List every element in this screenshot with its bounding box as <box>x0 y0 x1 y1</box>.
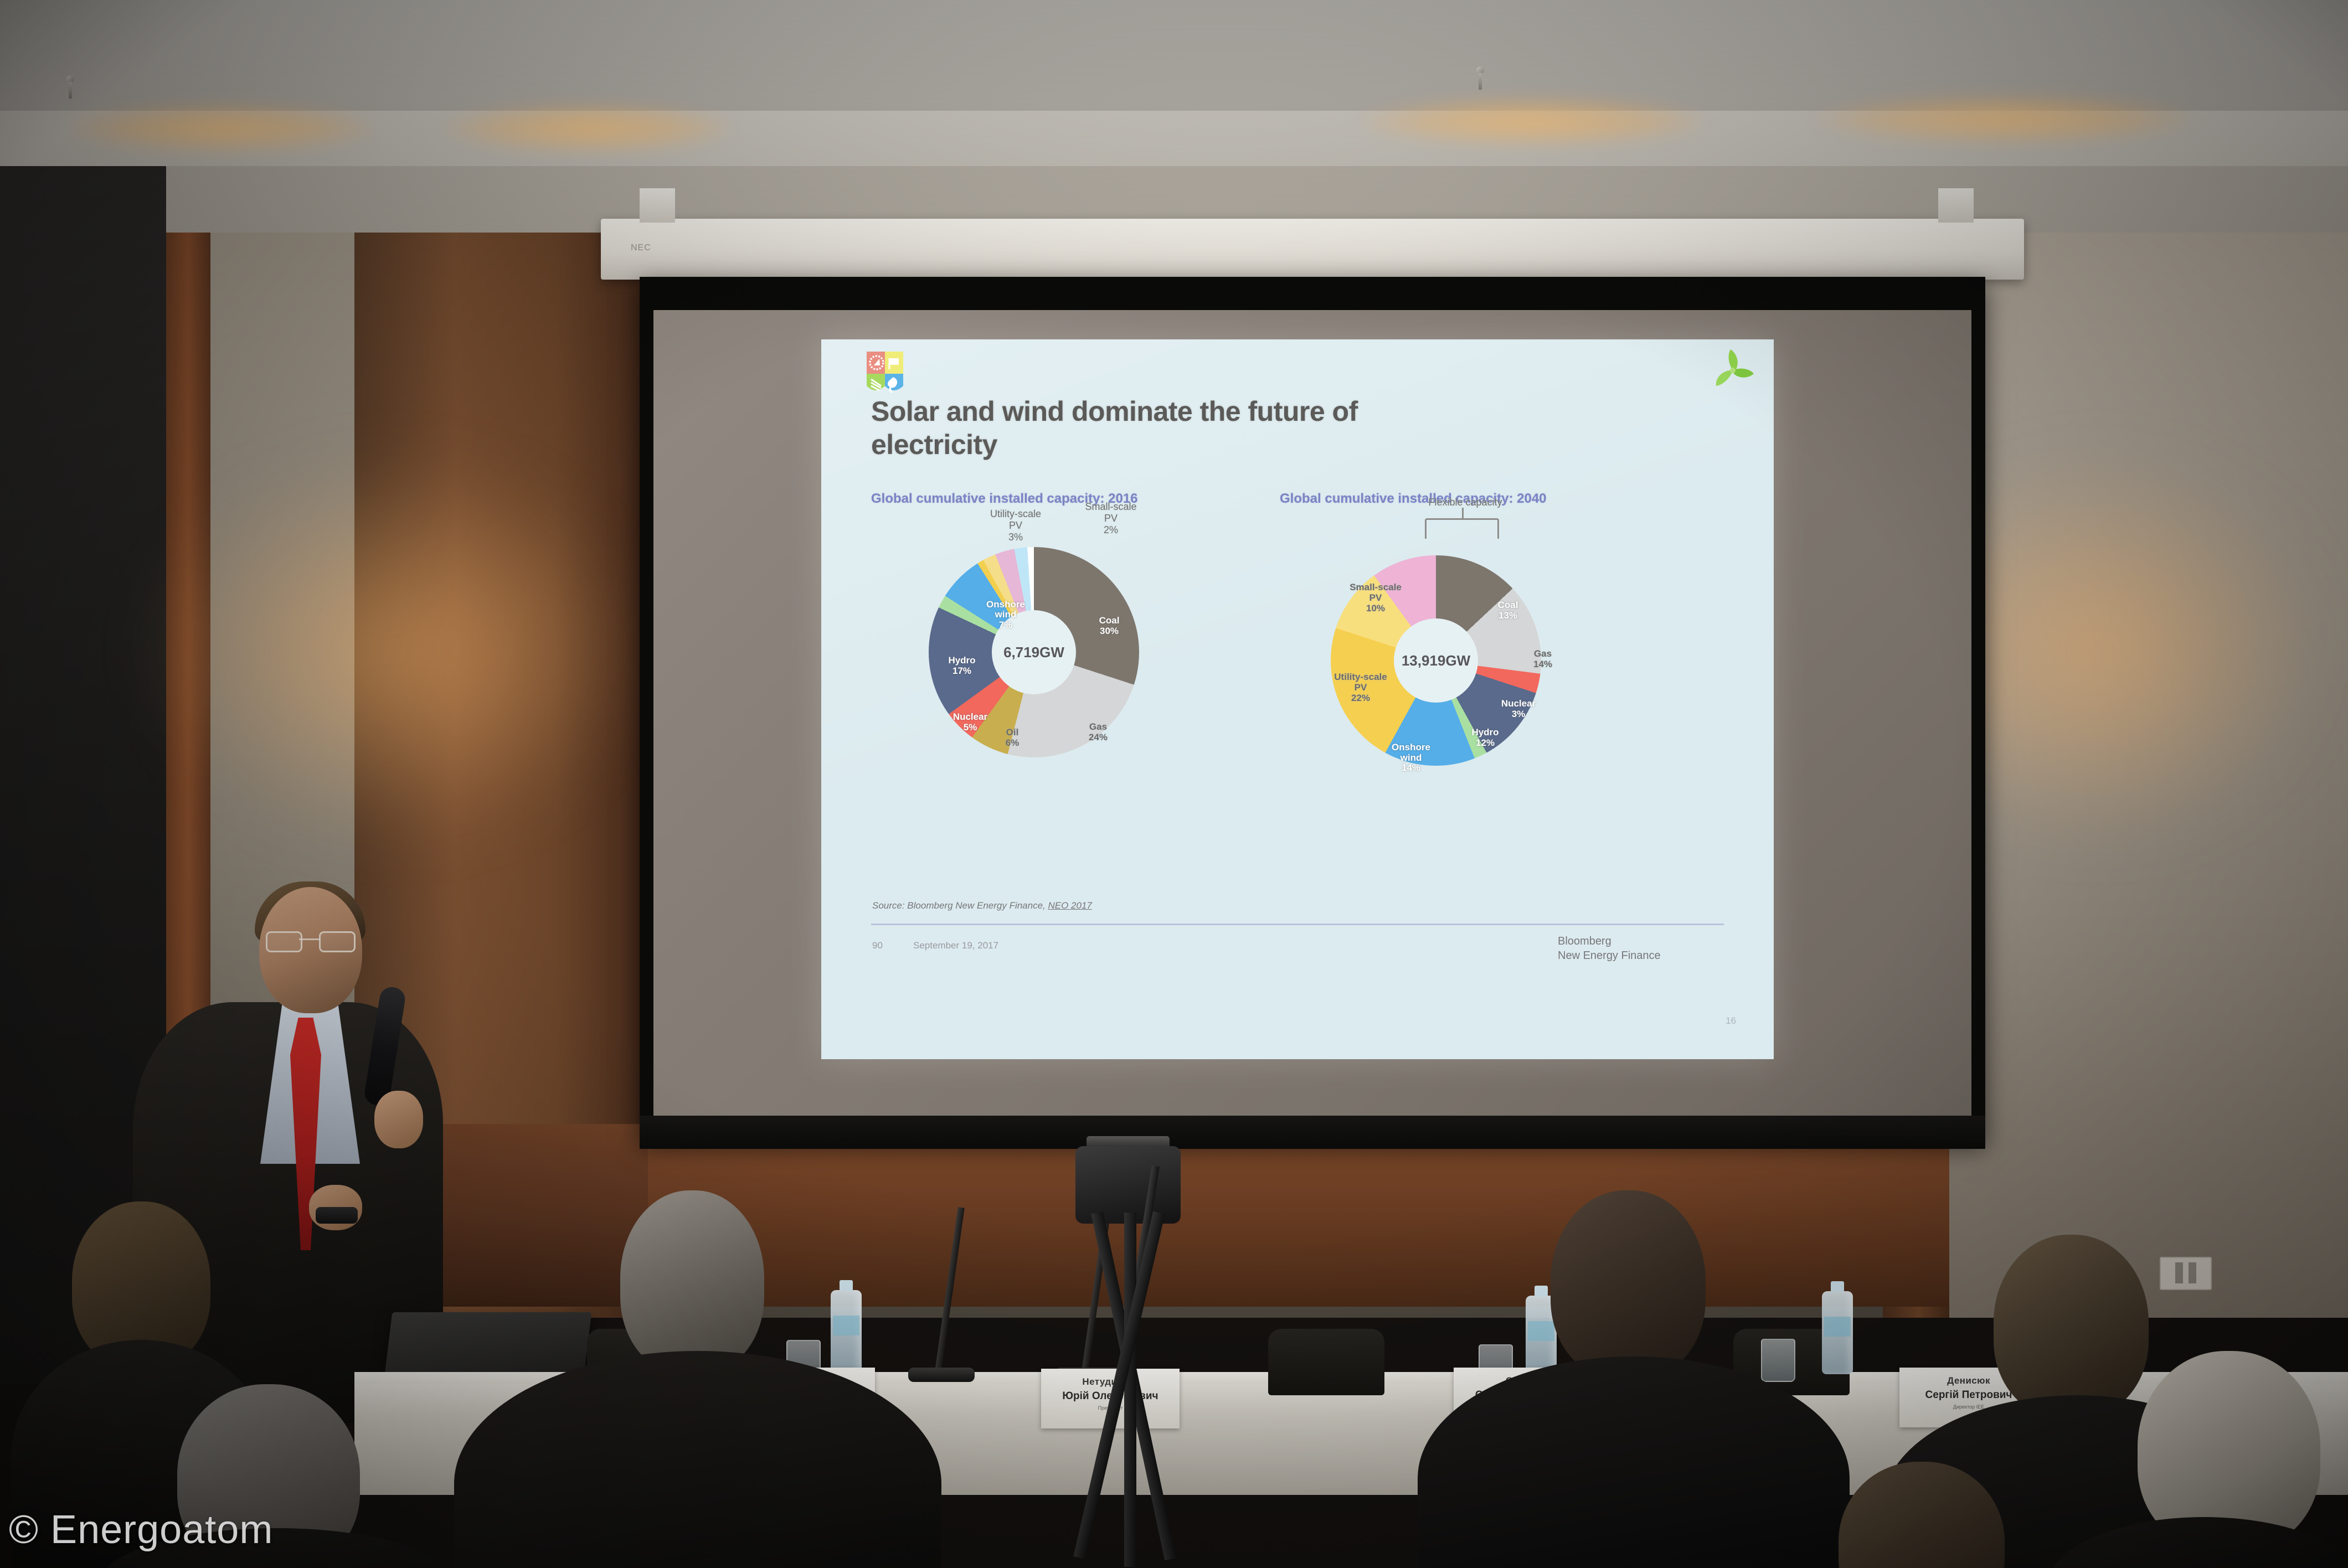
sprinkler-icon <box>1473 66 1487 92</box>
screen-mount-bracket <box>640 188 675 223</box>
screen-brand-label: NEC <box>631 243 651 253</box>
projected-slide: Solar and wind dominate the future of el… <box>821 339 1774 1059</box>
speaker-hand-mic <box>374 1091 423 1148</box>
flexible-capacity-bracket <box>1425 518 1499 539</box>
projector-screen-bottom-bar <box>640 1116 1985 1149</box>
slide-source: Source: Bloomberg New Energy Finance, NE… <box>872 900 1092 911</box>
chair <box>1268 1329 1384 1395</box>
cove-light-glow <box>66 103 377 153</box>
wall-light-glow <box>144 454 642 842</box>
audience-head <box>1994 1235 2149 1417</box>
bloomberg-brand: Bloomberg New Energy Finance <box>1558 935 1661 963</box>
slide-date: September 19, 2017 <box>913 940 998 951</box>
callout-utility-pv-2016: Utility-scalePV3% <box>957 508 1074 543</box>
callout-flexible-capacity-2040: Flexible capacity <box>1396 497 1535 508</box>
watermark: © Energoatom <box>9 1507 273 1552</box>
camera-tripod <box>1036 1146 1224 1567</box>
source-text: Source: Bloomberg New Energy Finance, <box>872 900 1048 911</box>
audience-head <box>1551 1190 1706 1379</box>
callout-smallscale-pv-2016: Small-scalePV2% <box>1058 501 1163 536</box>
cove-light-glow <box>1816 94 2193 144</box>
tripod-leg <box>1124 1213 1136 1567</box>
wall-outlet <box>2160 1257 2212 1290</box>
brand-line-2: New Energy Finance <box>1558 949 1661 963</box>
wall-wood-wainscot <box>642 1124 1949 1307</box>
drinking-glass[interactable] <box>1761 1339 1795 1382</box>
projector-screen-casing: NEC <box>601 219 2024 280</box>
donut-2040-center: 13,919GW <box>1394 618 1478 703</box>
shield-logo-icon <box>867 352 903 395</box>
donut-chart-2016: 6,719GW <box>929 547 1139 757</box>
slide-title: Solar and wind dominate the future of el… <box>871 395 1425 461</box>
left-chart-heading: Global cumulative installed capacity: 20… <box>871 490 1226 508</box>
eyeglasses-icon <box>266 931 353 950</box>
water-bottle[interactable] <box>831 1290 862 1373</box>
water-bottle[interactable] <box>1822 1291 1853 1374</box>
tripod-leg <box>1073 1211 1165 1560</box>
footer-divider <box>871 924 1724 925</box>
slide-page-number: 90 <box>872 940 883 951</box>
slide-number: 16 <box>1726 1015 1736 1027</box>
donut-2040-total: 13,919GW <box>1402 652 1470 669</box>
donut-2016-center: 6,719GW <box>992 610 1076 694</box>
photograph-scene: NEC Solar an <box>0 0 2348 1568</box>
cove-light-glow <box>1362 96 1706 146</box>
source-link: NEO 2017 <box>1048 900 1092 911</box>
cove-light-glow <box>443 103 731 153</box>
donut-2016-total: 6,719GW <box>1003 644 1064 661</box>
brand-line-1: Bloomberg <box>1558 935 1661 949</box>
table-microphone <box>908 1329 975 1382</box>
sprinkler-icon <box>63 75 78 101</box>
donut-chart-2040: 13,919GW <box>1331 555 1541 766</box>
screen-mount-bracket <box>1938 188 1974 223</box>
green-leaf-logo-icon <box>1708 347 1757 394</box>
tripod-head <box>1075 1146 1181 1224</box>
presentation-clicker <box>316 1207 358 1224</box>
audience-head <box>620 1190 764 1373</box>
